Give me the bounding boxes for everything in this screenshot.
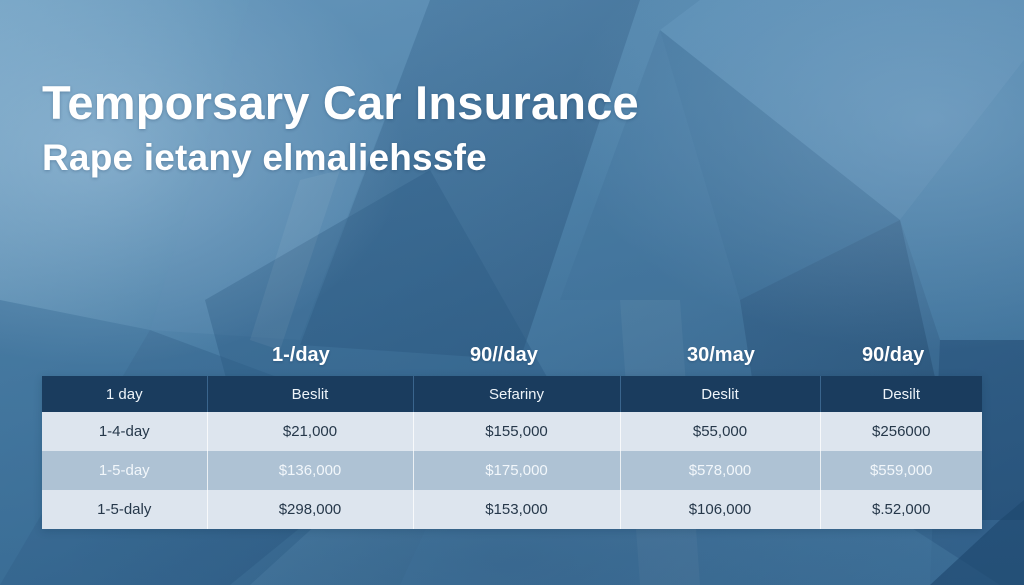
rate-cell: $55,000 bbox=[620, 412, 820, 451]
rate-cell: $153,000 bbox=[413, 490, 620, 529]
table-body: 1-4-day$21,000$155,000$55,000$2560001-5-… bbox=[42, 412, 982, 529]
table-header-row: 1 dayBeslitSefarinyDeslitDesilt bbox=[42, 376, 982, 412]
column-header-0: 1 day bbox=[42, 376, 207, 412]
column-header-1: Beslit bbox=[207, 376, 413, 412]
row-label-cell: 1-5-day bbox=[42, 451, 207, 490]
rate-cell: $106,000 bbox=[620, 490, 820, 529]
rate-cell: $175,000 bbox=[413, 451, 620, 490]
banner-heading-block: Temporsary Car Insurance Rape ietany elm… bbox=[42, 74, 639, 182]
overhead-label-2: 30/may bbox=[687, 344, 755, 367]
table-row: 1-5-daly$298,000$153,000$106,000$.52,000 bbox=[42, 490, 982, 529]
rate-cell: $.52,000 bbox=[820, 490, 982, 529]
rate-table: 1 dayBeslitSefarinyDeslitDesilt 1-4-day$… bbox=[42, 376, 982, 529]
rate-cell: $21,000 bbox=[207, 412, 413, 451]
overhead-label-0: 1-/day bbox=[272, 344, 330, 367]
overhead-label-3: 90/day bbox=[862, 344, 924, 367]
overhead-period-labels: 1-/day90//day30/may90/day bbox=[42, 344, 982, 370]
rate-cell: $559,000 bbox=[820, 451, 982, 490]
rate-cell: $256000 bbox=[820, 412, 982, 451]
page-title: Temporsary Car Insurance bbox=[42, 74, 639, 132]
page-subtitle: Rape ietany elmaliehssfe bbox=[42, 134, 639, 182]
rate-cell: $578,000 bbox=[620, 451, 820, 490]
column-header-2: Sefariny bbox=[413, 376, 620, 412]
row-label-cell: 1-5-daly bbox=[42, 490, 207, 529]
table-row: 1-4-day$21,000$155,000$55,000$256000 bbox=[42, 412, 982, 451]
row-label-cell: 1-4-day bbox=[42, 412, 207, 451]
rate-cell: $136,000 bbox=[207, 451, 413, 490]
column-header-4: Desilt bbox=[820, 376, 982, 412]
column-header-3: Deslit bbox=[620, 376, 820, 412]
rate-cell: $155,000 bbox=[413, 412, 620, 451]
rate-cell: $298,000 bbox=[207, 490, 413, 529]
poster-canvas: Temporsary Car Insurance Rape ietany elm… bbox=[0, 0, 1024, 585]
overhead-label-1: 90//day bbox=[470, 344, 538, 367]
table-row: 1-5-day$136,000$175,000$578,000$559,000 bbox=[42, 451, 982, 490]
